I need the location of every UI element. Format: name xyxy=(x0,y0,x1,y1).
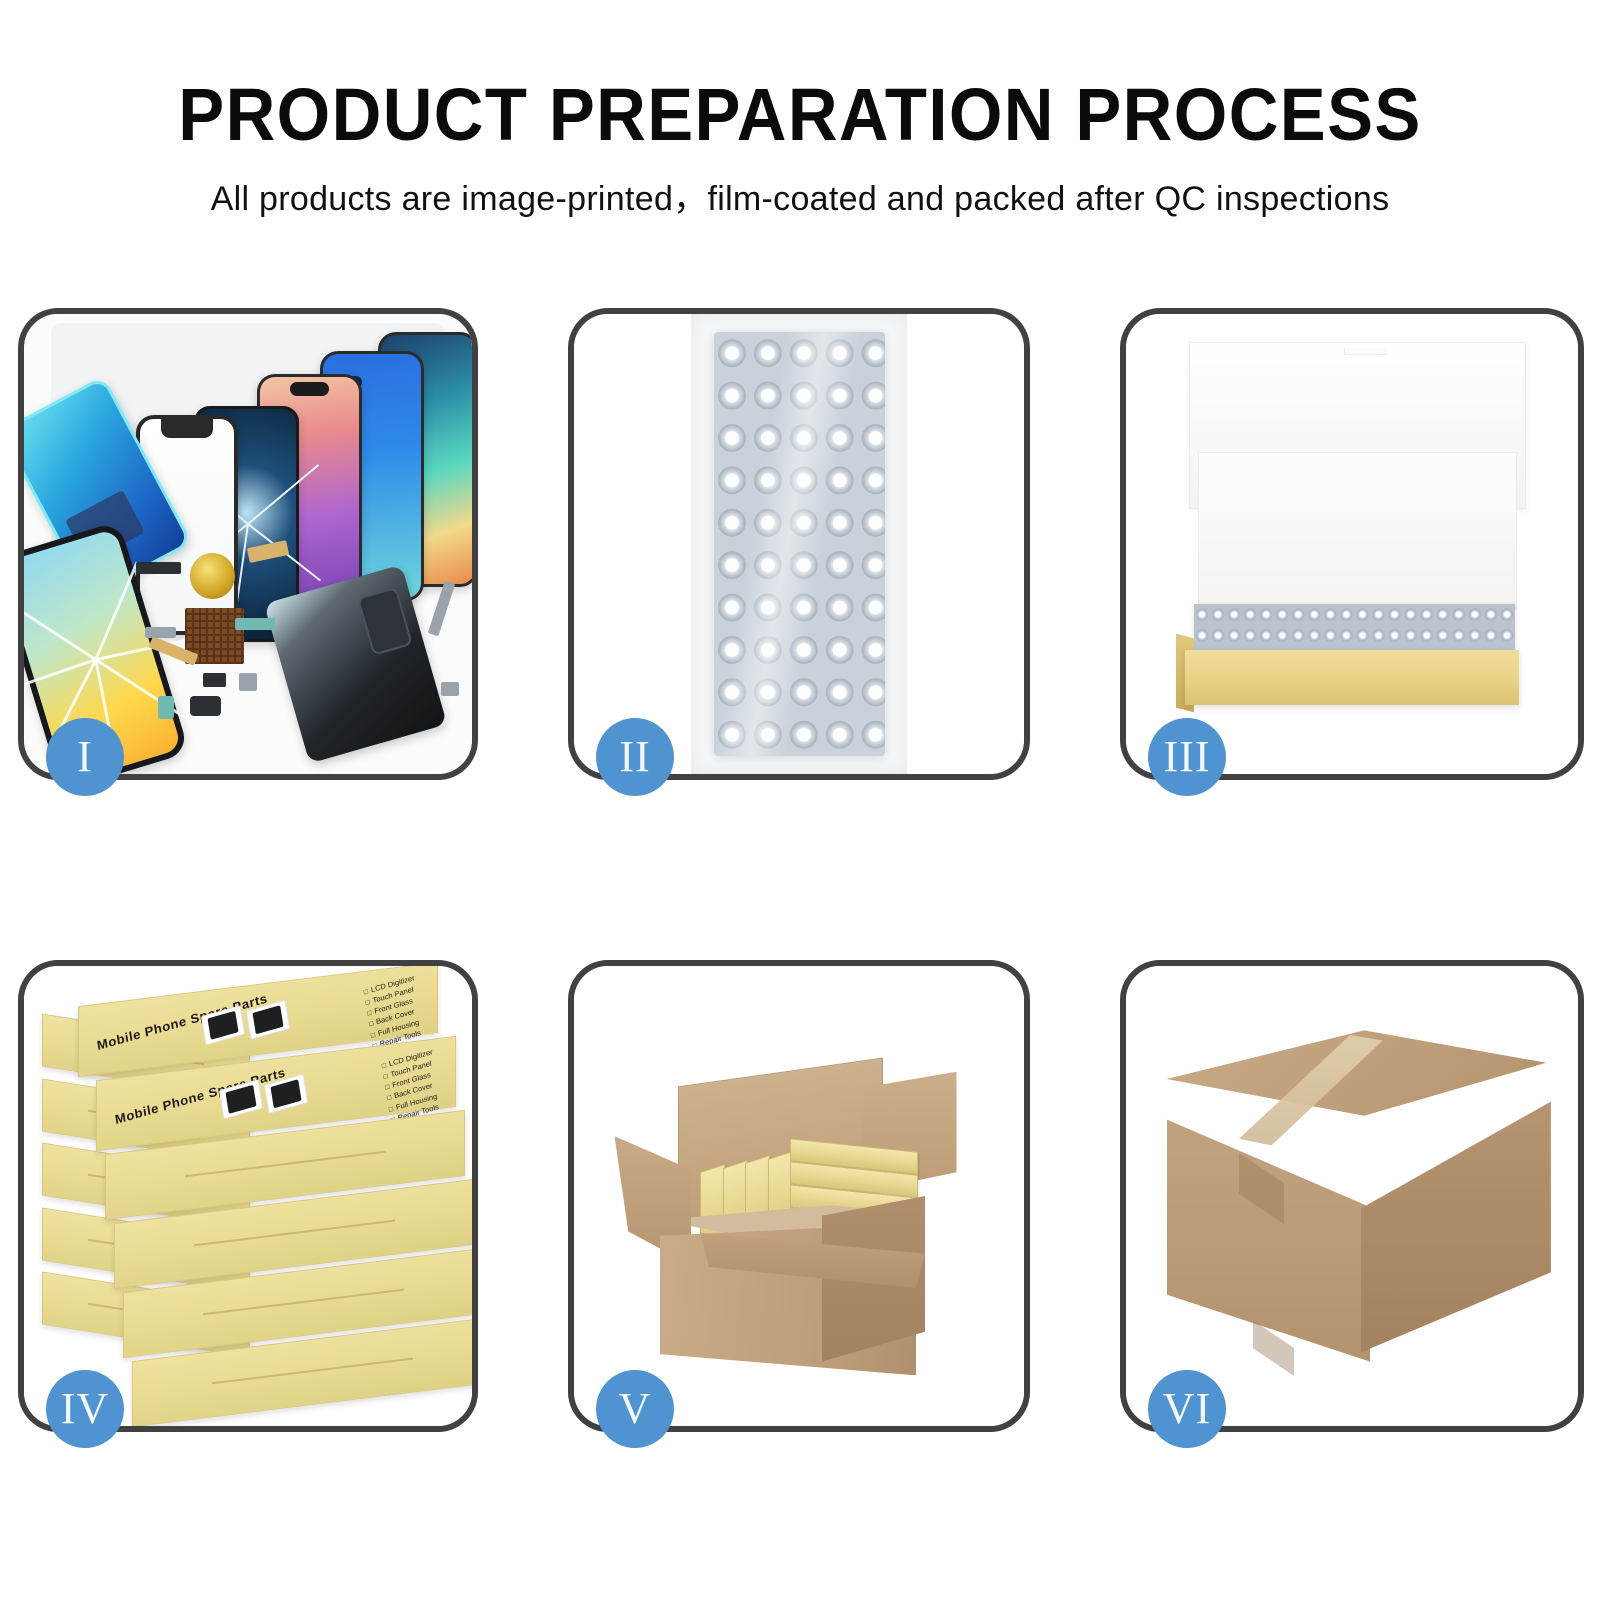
lid-tab xyxy=(1344,348,1386,356)
phone-screen-image xyxy=(207,1011,239,1041)
gold-box-stack-illustration: Mobile Phone Spare Parts LCD Digitizer T… xyxy=(24,966,472,1426)
step-badge-5: V xyxy=(596,1370,674,1448)
step-badge-4: IV xyxy=(46,1370,124,1448)
box-seam xyxy=(193,1219,394,1246)
panel-step-6-image xyxy=(1126,966,1578,1426)
panel-step-1[interactable]: I xyxy=(18,308,478,780)
open-carton-illustration xyxy=(574,966,1024,1426)
phone-screen-image xyxy=(225,1084,257,1114)
page-title: PRODUCT PREPARATION PROCESS xyxy=(56,0,1544,152)
box-seam xyxy=(184,1150,385,1177)
panel-step-2[interactable]: II xyxy=(568,308,1030,780)
box-seam xyxy=(202,1288,403,1315)
panel-step-5-image xyxy=(574,966,1024,1426)
step-badge-1: I xyxy=(46,718,124,796)
notch-icon xyxy=(290,382,329,396)
crack-line-icon xyxy=(24,600,96,660)
bubble-wrapped-item xyxy=(1194,604,1515,655)
speaker-module-part xyxy=(190,696,221,717)
earpiece-speaker-part xyxy=(136,562,181,574)
foam-insert xyxy=(1198,452,1516,610)
step-badge-6: VI xyxy=(1148,1370,1226,1448)
panel-step-4[interactable]: Mobile Phone Spare Parts LCD Digitizer T… xyxy=(18,960,478,1432)
screwdriver-tool-part xyxy=(428,580,456,636)
panel-step-4-image: Mobile Phone Spare Parts LCD Digitizer T… xyxy=(24,966,472,1426)
sealed-carton-illustration xyxy=(1126,966,1578,1426)
panel-step-3-image xyxy=(1126,314,1578,774)
panel-step-5[interactable]: V xyxy=(568,960,1030,1432)
step-badge-3: III xyxy=(1148,718,1226,796)
gold-box-base xyxy=(1185,650,1519,705)
phone-screen-image xyxy=(269,1079,301,1109)
panel-step-2-image xyxy=(574,314,1024,774)
panel-step-3[interactable]: III xyxy=(1120,308,1584,780)
vibrator-part xyxy=(239,673,257,691)
metal-bracket-part xyxy=(145,627,176,638)
page-header: PRODUCT PREPARATION PROCESS All products… xyxy=(0,0,1600,216)
open-mailer-illustration xyxy=(1126,314,1578,774)
screw-part xyxy=(441,682,459,696)
process-step-grid: I II III xyxy=(0,270,1600,1600)
phone-screen-image xyxy=(252,1005,284,1035)
panel-step-6[interactable]: VI xyxy=(1120,960,1584,1432)
page-subtitle: All products are image-printed，film-coat… xyxy=(0,152,1600,216)
carton-side-face xyxy=(1361,1086,1551,1353)
vibration-motor-part xyxy=(190,553,235,599)
product-collage-illustration xyxy=(24,314,472,774)
step-badge-2: II xyxy=(596,718,674,796)
small-connector-part xyxy=(203,673,225,687)
box-seam xyxy=(211,1357,412,1384)
notch-icon xyxy=(161,419,214,438)
bubble-wrap-sheet xyxy=(714,332,885,755)
crack-line-icon xyxy=(94,561,138,660)
bubble-wrap-illustration xyxy=(574,314,1024,774)
camera-module-icon xyxy=(356,586,412,655)
power-flex-part xyxy=(235,618,275,631)
sim-tray-part xyxy=(158,696,174,719)
panel-step-1-image xyxy=(24,314,472,774)
